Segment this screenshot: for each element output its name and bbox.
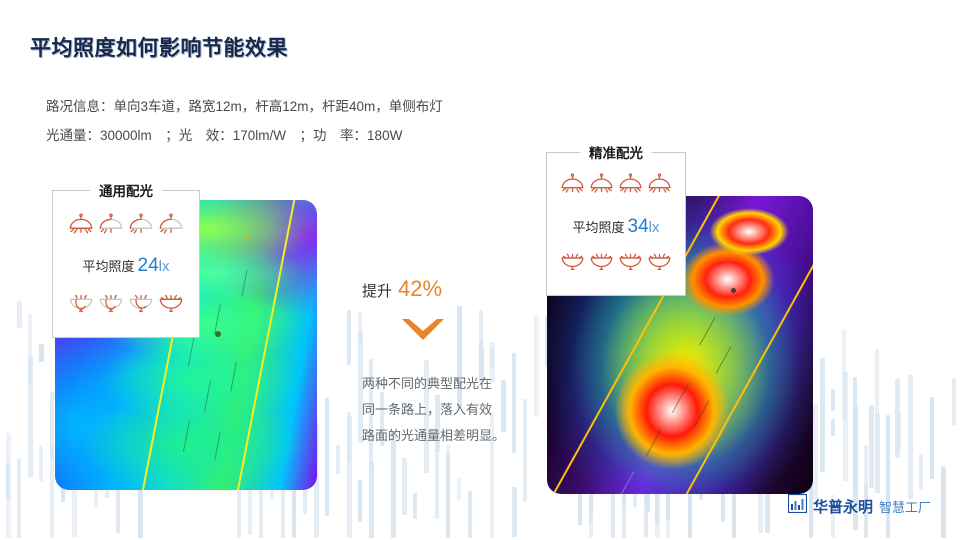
road-spec-block: 路况信息：单向3车道，路宽12m，杆高12m，杆距40m，单侧布灯 光通量：30… — [46, 92, 443, 150]
description-line: 同一条路上，落入有效 — [362, 397, 537, 423]
lamp-bowl-icon — [617, 248, 644, 278]
card-title-generic: 通用配光 — [90, 180, 162, 200]
lux-unit: lx — [649, 219, 660, 236]
lamp-wide-icon — [559, 173, 586, 203]
lux-value: 34 — [628, 216, 649, 237]
page-title: 平均照度如何影响节能效果 — [30, 32, 288, 62]
brand-sub: 智慧工厂 — [879, 497, 931, 516]
card-generic-distribution: 通用配光 — [52, 190, 200, 338]
description-line: 路面的光通量相差明显。 — [362, 423, 537, 449]
lamp-wide-icon — [127, 213, 155, 244]
uplift-readout: 提升42% — [362, 276, 537, 302]
lamp-bowl-icon — [127, 289, 155, 320]
lamp-row-top-generic — [53, 213, 199, 244]
lamp-wide-icon — [617, 173, 644, 203]
comparison-summary: 提升42% 两种不同的典型配光在 同一条路上，落入有效 路面的光通量相差明显。 — [362, 276, 537, 449]
uplift-label: 提升 — [362, 283, 392, 300]
lux-label: 平均照度 — [83, 259, 135, 274]
spec-line-road: 路况信息：单向3车道，路宽12m，杆高12m，杆距40m，单侧布灯 — [46, 92, 443, 121]
huapu-factory-mark-icon — [788, 494, 807, 518]
lamp-bowl-icon — [588, 248, 615, 278]
lamp-row-bottom-precise — [547, 248, 685, 278]
lamp-row-bottom-generic — [53, 289, 199, 320]
spec-line-luminaire: 光通量：30000lm ；光 效：170lm/W ；功 率：180W — [46, 121, 443, 150]
lamp-bowl-icon — [157, 289, 185, 320]
lux-label: 平均照度 — [573, 220, 625, 235]
lux-unit: lx — [159, 258, 170, 275]
lux-readout-generic: 平均照度24lx — [53, 255, 199, 277]
lamp-bowl-icon — [97, 289, 125, 320]
chevron-down-icon — [400, 316, 537, 349]
slide-canvas: 平均照度如何影响节能效果 路况信息：单向3车道，路宽12m，杆高12m，杆距40… — [0, 0, 960, 540]
lamp-row-top-precise — [547, 173, 685, 203]
card-title-precise: 精准配光 — [580, 142, 652, 162]
lamp-wide-icon — [67, 213, 95, 244]
description-line: 两种不同的典型配光在 — [362, 371, 537, 397]
lamp-wide-icon — [646, 173, 673, 203]
description-block: 两种不同的典型配光在 同一条路上，落入有效 路面的光通量相差明显。 — [362, 371, 537, 449]
lamp-wide-icon — [588, 173, 615, 203]
lamp-bowl-icon — [559, 248, 586, 278]
uplift-value: 42% — [398, 276, 442, 301]
lamp-bowl-icon — [646, 248, 673, 278]
card-precise-distribution: 精准配光 — [546, 152, 686, 296]
lamp-wide-icon — [157, 213, 185, 244]
lamp-wide-icon — [97, 213, 125, 244]
lux-value: 24 — [138, 255, 159, 276]
lux-readout-precise: 平均照度34lx — [547, 216, 685, 238]
brand-logo: 华普永明 智慧工厂 — [788, 494, 931, 518]
lamp-bowl-icon — [67, 289, 95, 320]
brand-name: 华普永明 — [813, 496, 873, 517]
